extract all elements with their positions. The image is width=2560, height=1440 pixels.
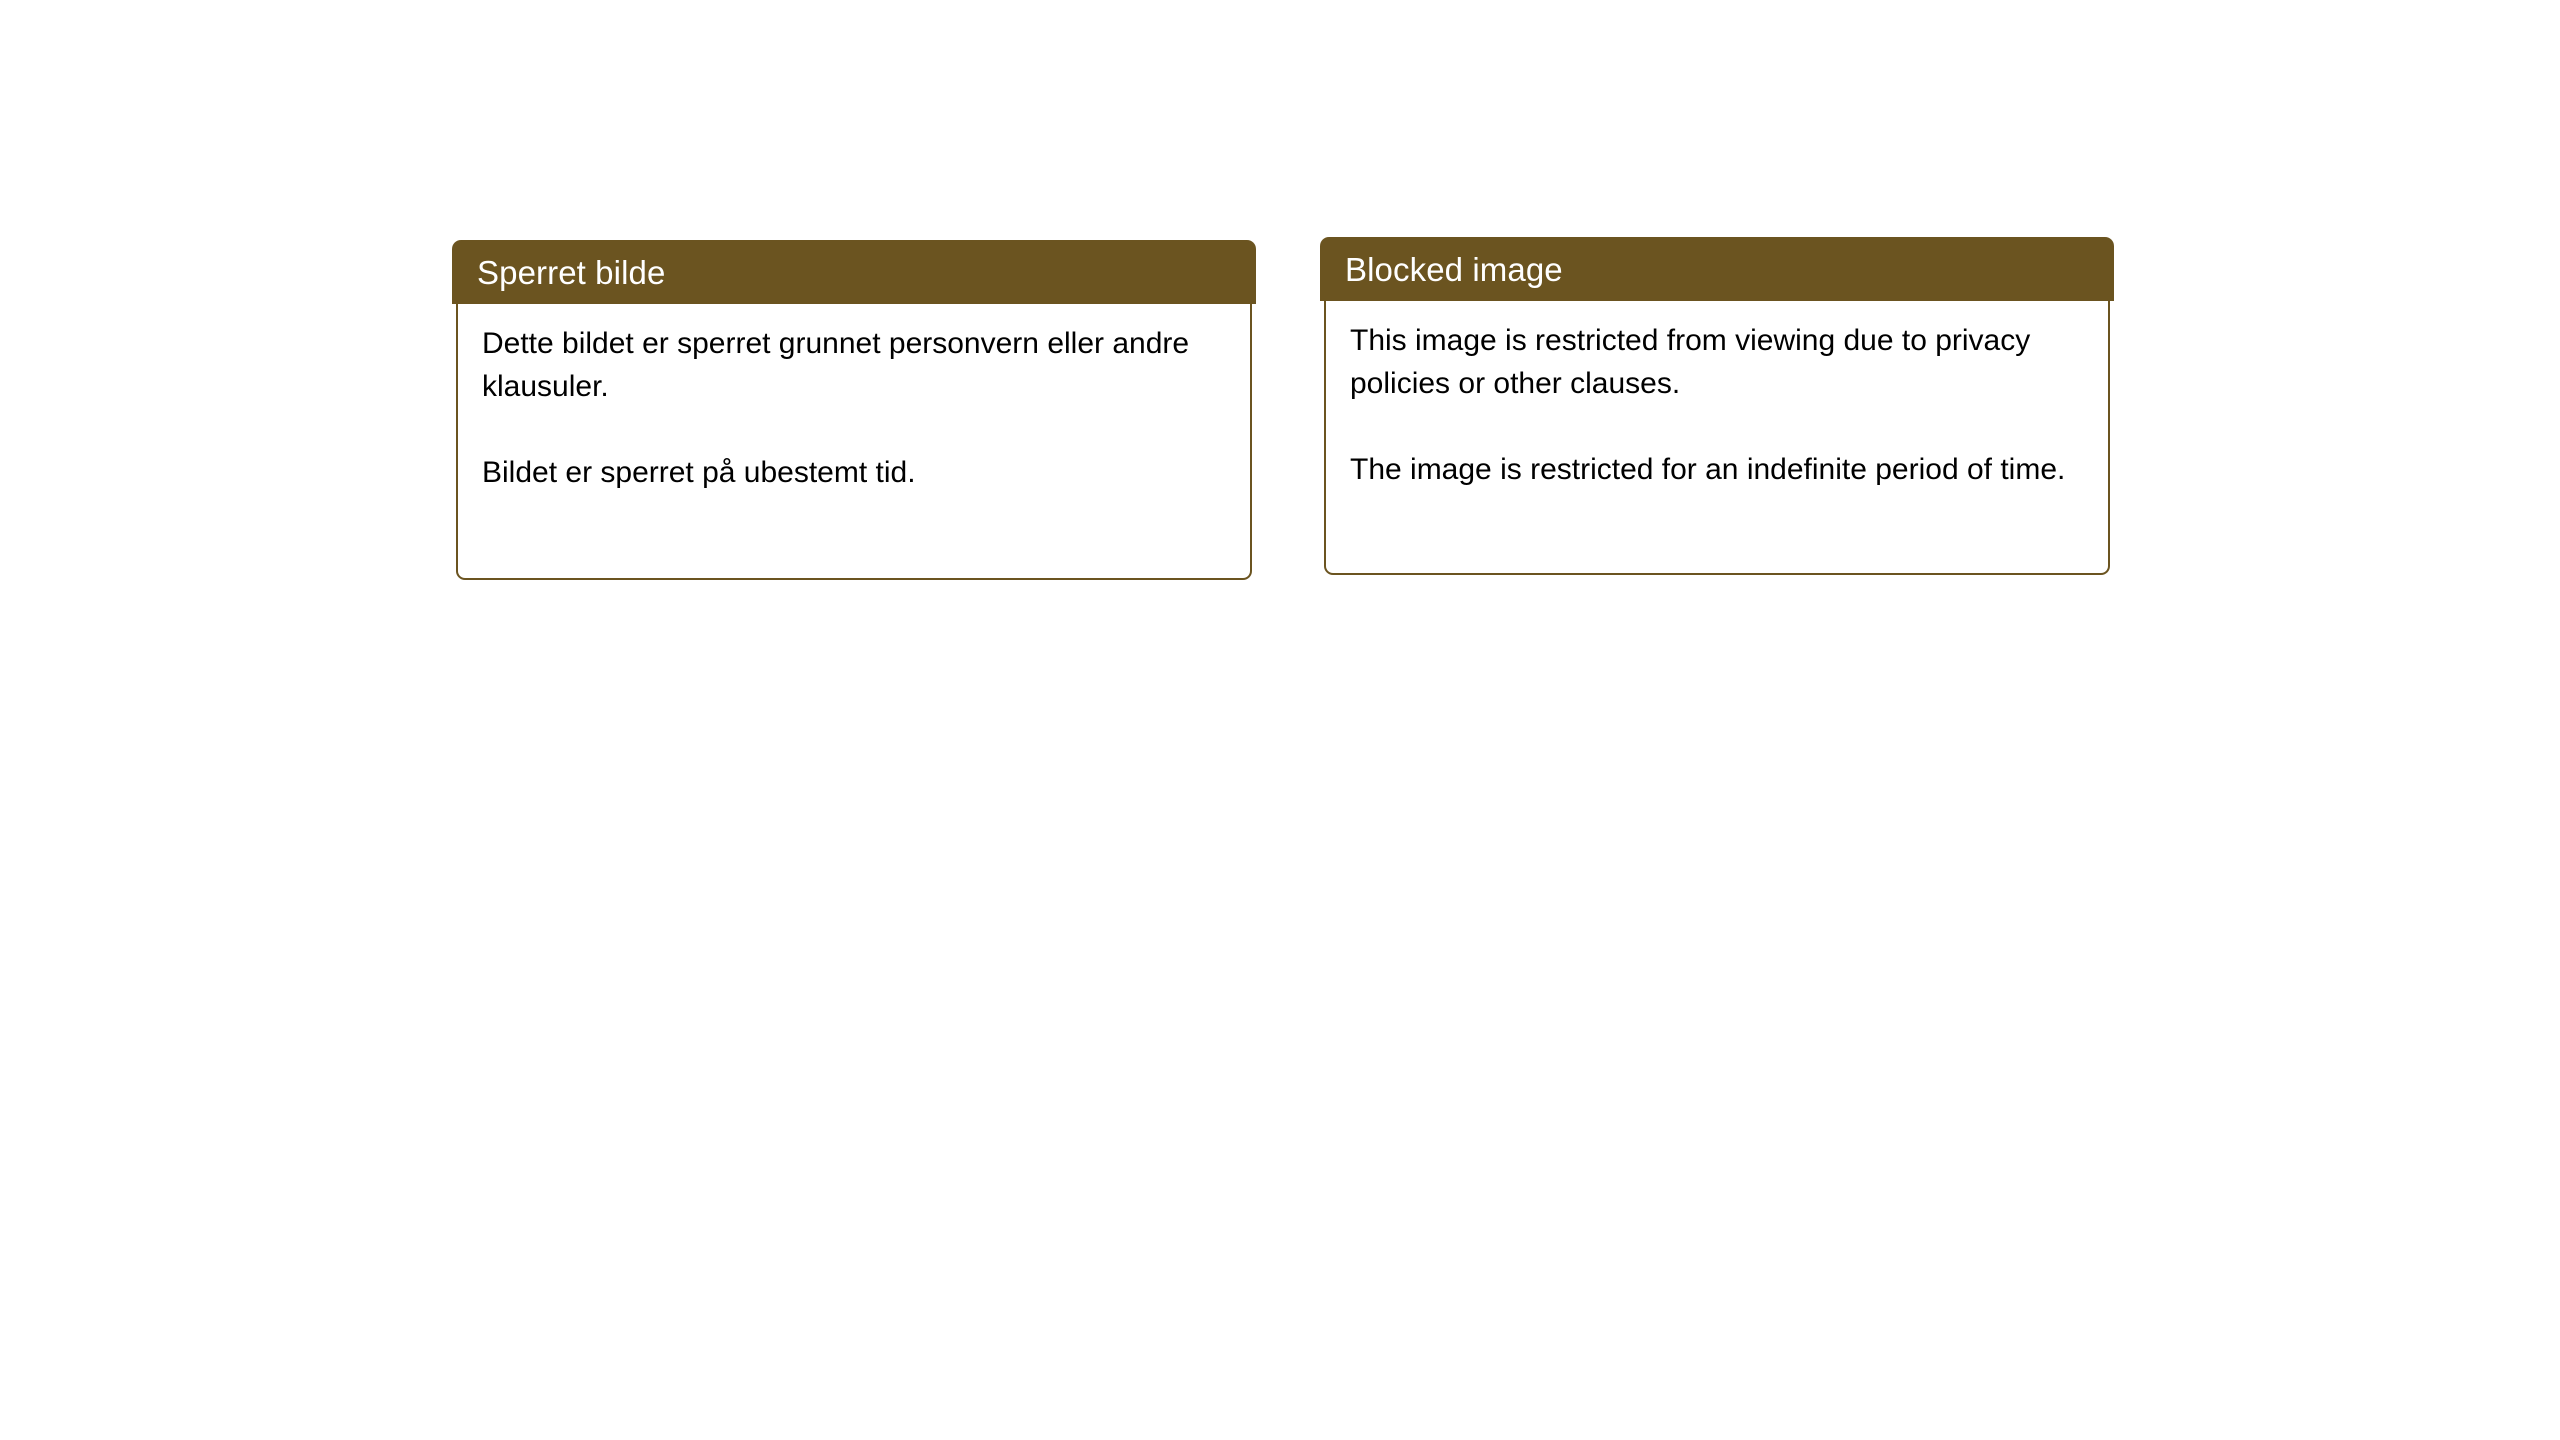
card-paragraph-no-1: Dette bildet er sperret grunnet personve… [482, 322, 1222, 408]
card-title-en: Blocked image [1345, 253, 1563, 286]
card-body-en: This image is restricted from viewing du… [1324, 301, 2110, 575]
card-header-no: Sperret bilde [452, 240, 1256, 304]
card-paragraph-en-2: The image is restricted for an indefinit… [1350, 448, 2088, 491]
card-body-text-no: Dette bildet er sperret grunnet personve… [482, 322, 1222, 494]
blocked-image-card-no: Sperret bilde Dette bildet er sperret gr… [452, 240, 1256, 580]
blocked-image-card-en: Blocked image This image is restricted f… [1320, 237, 2114, 577]
card-paragraph-en-1: This image is restricted from viewing du… [1350, 319, 2088, 405]
card-body-no: Dette bildet er sperret grunnet personve… [456, 304, 1252, 580]
card-paragraph-no-2: Bildet er sperret på ubestemt tid. [482, 451, 1222, 494]
card-header-en: Blocked image [1320, 237, 2114, 301]
card-body-text-en: This image is restricted from viewing du… [1350, 319, 2088, 491]
card-title-no: Sperret bilde [477, 256, 665, 289]
blocked-image-notices: Sperret bilde Dette bildet er sperret gr… [0, 0, 2560, 1440]
